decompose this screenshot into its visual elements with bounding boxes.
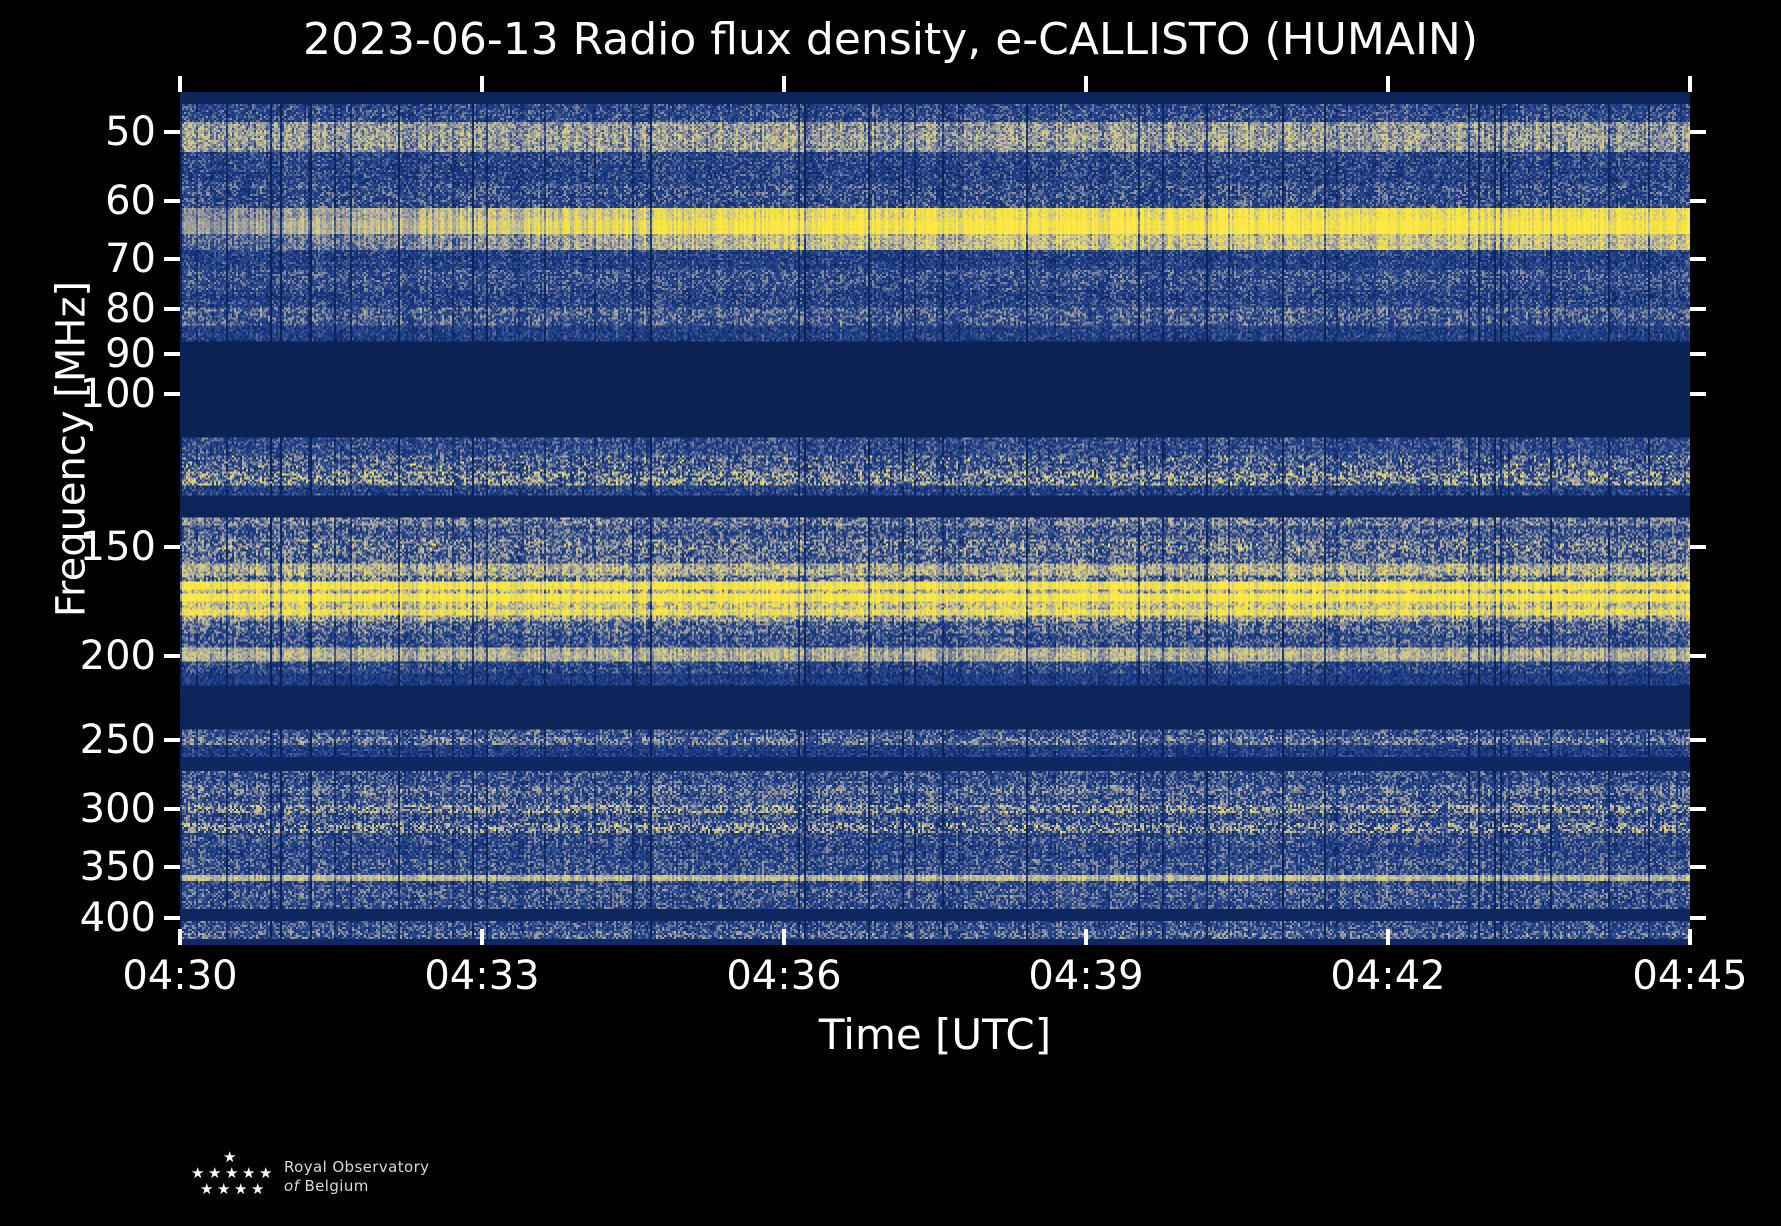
star-icon: ★: [242, 1166, 255, 1181]
x-tick-mark-top: [782, 76, 786, 92]
y-tick-mark: [164, 199, 180, 203]
x-tick-label: 04:45: [1600, 953, 1780, 999]
page-title: 2023-06-13 Radio flux density, e-CALLIST…: [0, 14, 1781, 65]
x-axis-title: Time [UTC]: [180, 1010, 1690, 1059]
y-tick-label: 60: [105, 177, 156, 225]
x-tick-label: 04:42: [1298, 953, 1478, 999]
star-icon: ★: [223, 1150, 236, 1165]
y-tick-mark: [164, 865, 180, 869]
y-tick-mark-right: [1690, 199, 1706, 203]
x-tick-mark: [178, 929, 182, 945]
logo-belgium-word: Belgium: [304, 1177, 368, 1195]
x-tick-mark-top: [1084, 76, 1088, 92]
x-tick-mark: [1386, 929, 1390, 945]
x-tick-mark: [1084, 929, 1088, 945]
x-tick-label: 04:33: [392, 953, 572, 999]
star-icon: ★: [200, 1182, 213, 1197]
y-tick-label: 50: [105, 108, 156, 156]
x-tick-mark: [1688, 929, 1692, 945]
logo-line-2: of Belgium: [284, 1177, 429, 1196]
y-tick-mark-right: [1690, 130, 1706, 134]
y-tick-mark: [164, 807, 180, 811]
x-tick-mark-top: [480, 76, 484, 92]
y-tick-mark-right: [1690, 865, 1706, 869]
x-tick-label: 04:30: [90, 953, 270, 999]
y-tick-mark: [164, 916, 180, 920]
spectrogram-image: [180, 92, 1690, 945]
x-tick-mark-top: [1688, 76, 1692, 92]
logo-of-word: of: [284, 1177, 299, 1195]
y-tick-mark-right: [1690, 738, 1706, 742]
y-tick-label: 70: [105, 235, 156, 283]
y-axis-title: Frequency [MHz]: [49, 23, 95, 876]
star-icon: ★: [251, 1182, 264, 1197]
y-tick-mark: [164, 352, 180, 356]
star-icon: ★: [225, 1166, 238, 1181]
y-tick-mark: [164, 392, 180, 396]
y-tick-mark-right: [1690, 916, 1706, 920]
x-tick-mark-top: [1386, 76, 1390, 92]
star-icon: ★: [208, 1166, 221, 1181]
star-icon: ★: [234, 1182, 247, 1197]
y-tick-mark: [164, 257, 180, 261]
star-icon: ★: [191, 1166, 204, 1181]
logo-text: Royal Observatory of Belgium: [284, 1158, 429, 1196]
x-tick-label: 04:36: [694, 953, 874, 999]
x-tick-mark: [782, 929, 786, 945]
x-tick-mark-top: [178, 76, 182, 92]
star-icon: ★: [259, 1166, 272, 1181]
y-tick-mark: [164, 130, 180, 134]
royal-observatory-logo: ★★★★★★★★★★ Royal Observatory of Belgium: [186, 1142, 606, 1212]
x-tick-mark: [480, 929, 484, 945]
y-tick-mark: [164, 307, 180, 311]
y-tick-mark-right: [1690, 807, 1706, 811]
y-tick-mark-right: [1690, 654, 1706, 658]
y-tick-mark-right: [1690, 307, 1706, 311]
star-cluster-icon: ★★★★★★★★★★: [186, 1150, 274, 1204]
y-tick-label: 80: [105, 285, 156, 333]
y-tick-mark-right: [1690, 352, 1706, 356]
x-tick-label: 04:39: [996, 953, 1176, 999]
y-tick-mark: [164, 545, 180, 549]
y-tick-mark-right: [1690, 545, 1706, 549]
star-icon: ★: [217, 1182, 230, 1197]
logo-line-1: Royal Observatory: [284, 1158, 429, 1177]
y-tick-mark-right: [1690, 257, 1706, 261]
y-tick-mark: [164, 654, 180, 658]
spectrogram-plot: [180, 92, 1690, 945]
y-tick-mark: [164, 738, 180, 742]
y-tick-label: 400: [80, 894, 156, 942]
y-tick-mark-right: [1690, 392, 1706, 396]
